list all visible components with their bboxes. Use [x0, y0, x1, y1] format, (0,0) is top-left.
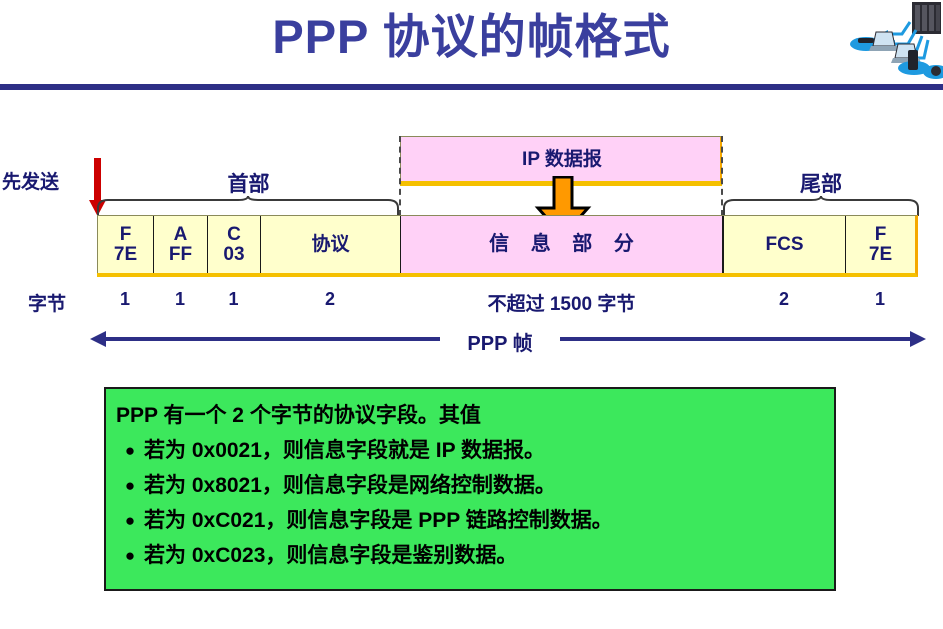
note-item-text: 若为 0xC023，则信息字段是鉴别数据。: [144, 538, 517, 573]
frame-span-label: PPP 帧: [440, 327, 560, 356]
note-list-item: ● 若为 0xC021，则信息字段是 PPP 链路控制数据。: [116, 503, 834, 538]
note-list-item: ● 若为 0xC023，则信息字段是鉴别数据。: [116, 538, 834, 573]
field-line2: 03: [223, 245, 244, 265]
trailer-brace: [723, 196, 919, 216]
frame-field-control: C 03: [207, 216, 260, 273]
byte-count-flag-end: 1: [845, 289, 915, 310]
field-line1: A: [174, 225, 188, 245]
slide-canvas: PPP 协议的帧格式: [0, 0, 943, 629]
field-line2: 7E: [114, 245, 137, 265]
frame-field-information: 信 息 部 分: [400, 216, 723, 273]
byte-count-protocol: 2: [260, 289, 400, 310]
field-line1: C: [227, 225, 241, 245]
field-line1: 信 息 部 分: [481, 234, 642, 255]
field-line1: FCS: [766, 235, 804, 255]
frame-field-protocol: 协议: [260, 216, 400, 273]
bullet-icon: ●: [116, 433, 144, 468]
note-list-item: ● 若为 0x0021，则信息字段就是 IP 数据报。: [116, 433, 834, 468]
byte-count-fcs: 2: [723, 289, 845, 310]
field-line2: 7E: [869, 245, 892, 265]
note-list-item: ● 若为 0x8021，则信息字段是网络控制数据。: [116, 468, 834, 503]
frame-field-flag-start: F 7E: [97, 216, 153, 273]
title-divider: [0, 84, 943, 90]
frame-field-address: A FF: [153, 216, 207, 273]
header-brace: [97, 196, 400, 216]
trailer-brace-label: 尾部: [723, 168, 919, 198]
frame-field-flag-end: F 7E: [845, 216, 915, 273]
field-line1: F: [120, 225, 132, 245]
first-sent-label: 先发送: [2, 167, 59, 194]
bytes-row-label: 字节: [28, 289, 66, 316]
field-line2: FF: [169, 245, 192, 265]
byte-count-control: 1: [207, 289, 260, 310]
byte-count-address: 1: [153, 289, 207, 310]
byte-count-information: 不超过 1500 字节: [400, 289, 723, 316]
bullet-icon: ●: [116, 538, 144, 573]
note-box: PPP 有一个 2 个字节的协议字段。其值 ● 若为 0x0021，则信息字段就…: [104, 387, 836, 591]
header-brace-label: 首部: [97, 168, 400, 198]
network-devices-logo: [840, 0, 943, 82]
bullet-icon: ●: [116, 503, 144, 538]
note-item-text: 若为 0xC021，则信息字段是 PPP 链路控制数据。: [144, 503, 613, 538]
note-heading: PPP 有一个 2 个字节的协议字段。其值: [116, 399, 834, 433]
note-item-text: 若为 0x8021，则信息字段是网络控制数据。: [144, 468, 556, 503]
field-line1: 协议: [311, 235, 349, 255]
bullet-icon: ●: [116, 468, 144, 503]
note-item-text: 若为 0x0021，则信息字段就是 IP 数据报。: [144, 433, 545, 468]
frame-field-fcs: FCS: [723, 216, 845, 273]
byte-count-flag-start: 1: [97, 289, 153, 310]
page-title: PPP 协议的帧格式: [0, 4, 943, 70]
ppp-frame-strip: F 7E A FF C 03 协议 信 息 部 分 FCS F 7E: [97, 215, 918, 277]
field-line1: F: [875, 225, 887, 245]
